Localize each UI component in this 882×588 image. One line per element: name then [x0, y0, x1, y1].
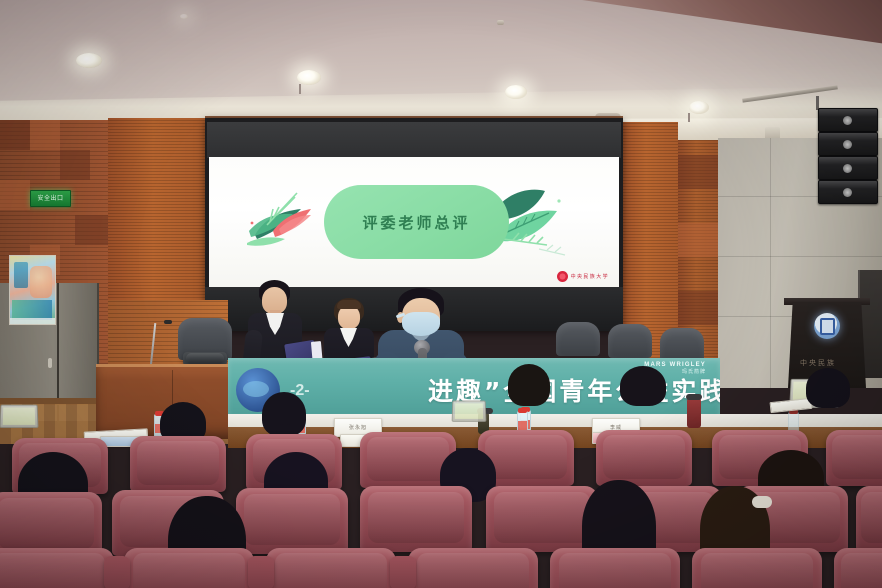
leaf-svg-left: [243, 187, 315, 253]
auditorium-seat: [236, 488, 348, 554]
seat-armrest: [390, 556, 416, 588]
light-stem: [688, 113, 690, 122]
loudspeaker-cabinet: [818, 132, 878, 156]
wall-checker-tile: [678, 223, 718, 257]
judge-name-text: 张永旭: [349, 424, 367, 431]
auditorium-seat: [124, 548, 254, 588]
auditorium-seat: [596, 430, 692, 486]
auditorium-seat: [408, 548, 538, 588]
sprinkler-head: [497, 20, 504, 25]
poster-shape: [12, 300, 52, 320]
auditorium-seat: [834, 548, 882, 588]
judge-seated-head: [508, 364, 550, 406]
stage-chair: [178, 318, 232, 360]
podium-label: 中央民族: [800, 358, 836, 368]
auditorium-photo: 安全出口: [0, 0, 882, 588]
wall-checker-tile: [60, 150, 90, 180]
mug-lid: [686, 394, 702, 400]
stone-seam: [770, 138, 771, 388]
wall-checker-tile: [75, 215, 108, 245]
poster-footer: [10, 318, 55, 324]
laptop-screen: [455, 403, 483, 419]
ceiling-downlight: [76, 53, 102, 68]
wall-checker-tile: [678, 155, 718, 189]
slide-logo-text: 中央民族大学: [571, 273, 609, 280]
speaker-cone: [843, 116, 852, 125]
judge-laptop[interactable]: [0, 405, 38, 428]
laptop-screen: [3, 407, 36, 424]
stone-seam: [718, 256, 882, 257]
bottle-label: [518, 421, 527, 430]
speaker-face-mask: [402, 312, 440, 336]
light-stem: [299, 84, 301, 94]
wall-checker-tile: [30, 120, 60, 150]
auditorium-seat: [360, 486, 472, 552]
judge-documents: [770, 398, 813, 413]
line-array-speaker-stack: [818, 108, 876, 203]
auditorium-seat: [0, 548, 114, 588]
projection-screen-surface: 评委老师总评 中央民族大学: [209, 157, 619, 287]
university-seal-icon: [557, 271, 568, 282]
ceiling-downlight: [297, 70, 321, 85]
loudspeaker-cabinet: [818, 156, 878, 180]
door-handle[interactable]: [48, 358, 52, 368]
auditorium-seat: [692, 548, 822, 588]
seat-armrest: [104, 556, 130, 588]
auditorium-seat: [130, 436, 226, 492]
speaker-cone: [843, 140, 852, 149]
auditorium-front-chair: [556, 322, 600, 356]
slide-university-logo: 中央民族大学: [557, 271, 609, 282]
bottle-cap: [518, 408, 527, 413]
judge-seated-head: [806, 368, 850, 408]
exit-sign: 安全出口: [30, 190, 71, 207]
travel-mug: [687, 398, 701, 428]
poster-shape: [14, 262, 28, 288]
auditorium-seat: [826, 430, 882, 486]
speaker-cone: [843, 188, 852, 197]
wall-checker-tile: [678, 291, 718, 325]
audience-hair-clip: [752, 496, 772, 508]
leaf-decoration-left: [243, 187, 315, 253]
seat-armrest: [248, 556, 274, 588]
wall-checker-tile: [0, 180, 30, 210]
loudspeaker-cabinet: [818, 180, 878, 204]
speaker-cone: [843, 164, 852, 173]
emblem-inner-glyph: [820, 318, 835, 335]
poster-shape: [30, 266, 52, 298]
slide-title-pill: 评委老师总评: [324, 185, 509, 259]
auditorium-front-chair: [660, 328, 704, 362]
slide-title-text: 评委老师总评: [362, 212, 470, 233]
auditorium-seat: [550, 548, 680, 588]
university-emblem-icon: [814, 313, 840, 339]
wall-poster: [9, 255, 56, 325]
auditorium-front-chair: [608, 324, 652, 358]
ceiling-downlight: [180, 14, 188, 19]
judge-seated-head: [620, 366, 666, 406]
wall-checker-tile: [0, 120, 30, 150]
exit-sign-label: 安全出口: [37, 196, 63, 202]
host-right-bangs: [337, 300, 361, 309]
projection-screen-mask-band: [207, 122, 621, 158]
gooseneck-microphone-head: [164, 320, 172, 324]
ceiling-downlight: [689, 101, 709, 114]
loudspeaker-cabinet: [818, 108, 878, 132]
auditorium-seat: [266, 548, 396, 588]
ceiling-downlight: [505, 85, 527, 99]
judge-laptop[interactable]: [452, 401, 487, 422]
auditorium-seat: [856, 486, 882, 552]
